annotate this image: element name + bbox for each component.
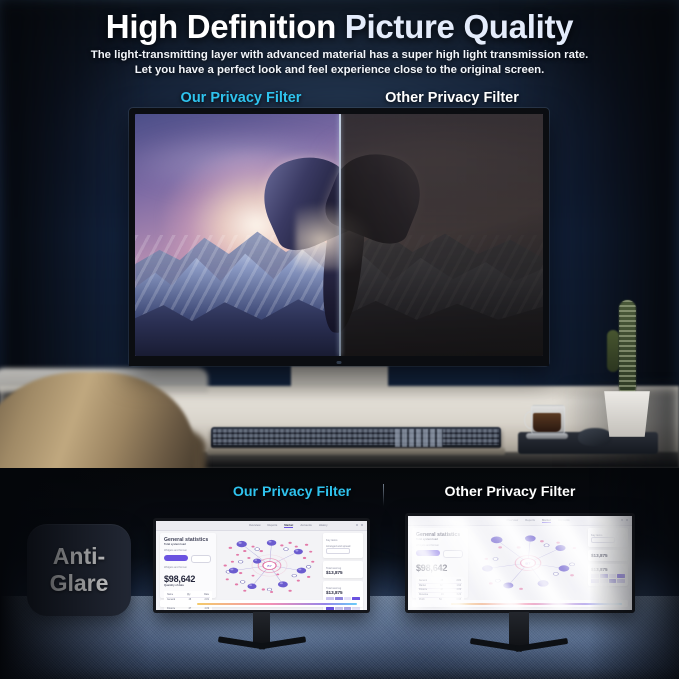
cactus-arm xyxy=(607,330,619,372)
cell-qty: 27 xyxy=(189,608,192,610)
subtitle-line-2: Let you have a perfect look and feel exp… xyxy=(0,63,679,78)
keyboard-tray-shadow xyxy=(207,448,505,455)
col-rate: Rate xyxy=(204,594,209,596)
cell-qty: 32 xyxy=(440,585,443,587)
analyze-button-other[interactable] xyxy=(416,550,440,556)
dashboard-action-buttons-other xyxy=(416,550,464,558)
tab-history[interactable]: History xyxy=(319,523,328,528)
hero-monitor-screen xyxy=(135,114,543,356)
minimize-icon[interactable] xyxy=(356,524,358,526)
label-other-privacy-filter-top: Other Privacy Filter xyxy=(352,90,552,106)
cell-name: Finance xyxy=(419,589,427,591)
hero-monitor xyxy=(129,108,549,366)
metric-label: Widgets and format xyxy=(164,566,212,569)
total-system-load-label: Total system load xyxy=(164,543,212,546)
cell-qty: 19 xyxy=(441,594,444,596)
bottom-divider-line xyxy=(383,484,384,506)
col-name: Name xyxy=(167,594,173,596)
cell-rate: 4.09 xyxy=(457,589,461,591)
comparison-labels-top: Our Privacy Filter Other Privacy Filter xyxy=(0,90,679,110)
computer-mouse xyxy=(578,428,612,446)
cell-name: Revenue xyxy=(419,594,428,596)
dashboard-ours: Overview Reports Market Accounts History… xyxy=(156,521,367,610)
tab-accounts-other[interactable]: Accounts xyxy=(558,518,570,523)
dashboard-left-panel-other: General statistics Total system load Wid… xyxy=(412,528,468,598)
tab-reports[interactable]: Reports xyxy=(267,523,277,528)
tab-overview[interactable]: Overview xyxy=(249,523,261,528)
network-graph: 87 xyxy=(218,534,321,597)
page-title-part1: High Definition xyxy=(106,8,345,45)
card2-value: $13,875 xyxy=(326,570,360,575)
monitor-neck-left xyxy=(253,612,270,646)
network-graph-svg-other: 87 xyxy=(470,529,586,597)
cell-name: Market xyxy=(419,585,426,587)
bottom-vignette-right xyxy=(589,468,679,679)
card1-label: Key items xyxy=(326,539,360,542)
window-controls[interactable] xyxy=(356,524,363,526)
dashboard-right-panel: Key items Arranged and spread Total new … xyxy=(323,533,363,598)
card-key-items: Key items Arranged and spread xyxy=(323,533,363,558)
cell-rate: 4.09 xyxy=(205,608,209,610)
card-total-new-log-1: Total new log $13,875 xyxy=(323,561,363,578)
graph-center-label-other: 87 xyxy=(525,562,530,565)
keyboard-numpad xyxy=(395,429,443,447)
page-title-part2: Picture Quality xyxy=(345,8,573,45)
dashboard-left-panel: General statistics Total system load Wid… xyxy=(160,533,216,598)
bottom-vignette-left xyxy=(0,468,150,679)
monitor-neck-right xyxy=(509,612,529,648)
connect-button[interactable] xyxy=(326,548,350,554)
network-graph-other: 87 xyxy=(470,529,586,597)
quantity-of-data-title: Quantity of data xyxy=(164,584,212,587)
metric-value: $98,642 xyxy=(164,574,212,584)
plant-pot xyxy=(601,391,653,437)
network-graph-svg: 87 xyxy=(218,534,321,597)
tab-accounts[interactable]: Accounts xyxy=(300,523,312,528)
tab-market[interactable]: Market xyxy=(284,523,293,528)
reset-button[interactable] xyxy=(191,555,211,563)
widgets-format-label: Widgets and format xyxy=(164,549,212,552)
tab-reports-other[interactable]: Reports xyxy=(525,518,535,523)
cell-name: Finance xyxy=(167,608,175,610)
cell-rate: 3.22 xyxy=(457,594,461,596)
label-our-privacy-filter-bottom: Our Privacy Filter xyxy=(192,484,392,500)
cell-qty: 48 xyxy=(441,580,444,582)
cell-name: General xyxy=(419,580,427,582)
total-system-load-label-other: Total system load xyxy=(416,538,464,541)
table-row[interactable]: Finance274.09 xyxy=(166,607,210,610)
tab-market-other[interactable]: Market xyxy=(542,518,551,523)
page-title: High Definition Picture Quality xyxy=(0,8,679,46)
keyboard xyxy=(211,427,501,449)
power-led-icon xyxy=(337,361,342,364)
col-qty: Qty xyxy=(187,594,191,596)
tab-overview-other[interactable]: Overview xyxy=(507,518,519,523)
graph-center-label: 87 xyxy=(267,565,272,568)
keyboard-key-rows xyxy=(213,429,499,445)
product-infographic: High Definition Picture Quality The ligh… xyxy=(0,0,679,679)
dashboard-tabs: Overview Reports Market Accounts History xyxy=(249,523,328,528)
cell-rate: 2.81 xyxy=(457,580,461,582)
dashboard-action-buttons xyxy=(164,555,212,563)
dashboard-titlebar: Overview Reports Market Accounts History xyxy=(156,521,367,531)
label-our-privacy-filter-top: Our Privacy Filter xyxy=(146,90,336,106)
other-filter-wash-overlay xyxy=(339,114,543,356)
subtitle-line-1: The light-transmitting layer with advanc… xyxy=(0,48,679,63)
bottom-monitor-ours-screen: Overview Reports Market Accounts History… xyxy=(156,521,367,610)
footer-sparkline xyxy=(197,603,357,605)
page-subtitle: The light-transmitting layer with advanc… xyxy=(0,48,679,77)
analyze-button[interactable] xyxy=(164,555,188,561)
reset-button-other[interactable] xyxy=(443,550,463,558)
maximize-icon[interactable] xyxy=(361,524,363,526)
coffee-liquid xyxy=(533,413,561,432)
card3-value: $13,875 xyxy=(326,590,360,595)
metric-value-other: $98,642 xyxy=(416,563,464,573)
cactus-spines xyxy=(619,300,636,396)
cup-saucer xyxy=(526,433,568,439)
widgets-format-label-other: Widgets and format xyxy=(416,544,464,547)
bottom-monitor-ours: Overview Reports Market Accounts History… xyxy=(153,518,370,613)
cell-rate: 1.64 xyxy=(457,585,461,587)
top-desk-scene: High Definition Picture Quality The ligh… xyxy=(0,0,679,468)
label-other-privacy-filter-bottom: Other Privacy Filter xyxy=(400,484,620,500)
comparison-divider-line xyxy=(339,114,341,356)
dashboard-footer xyxy=(160,600,363,607)
cell-qty: 27 xyxy=(441,589,444,591)
dashboard-tabs-other: Overview Reports Market Accounts xyxy=(507,518,570,523)
